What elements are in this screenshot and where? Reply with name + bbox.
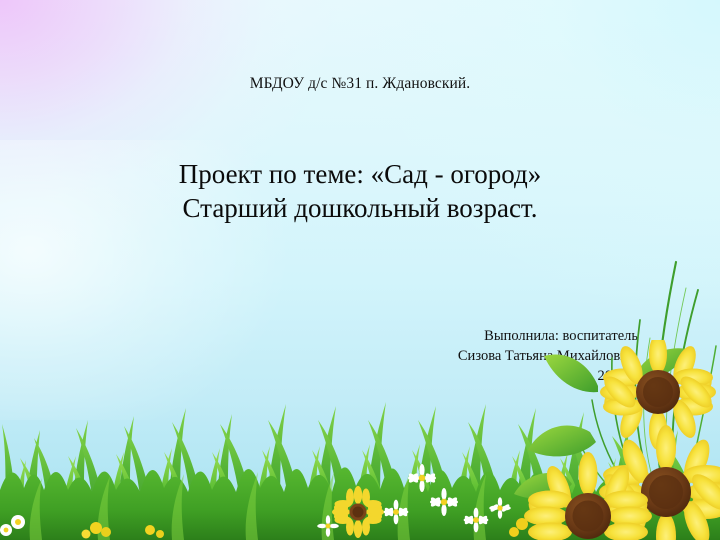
page-title: Проект по теме: «Сад - огород» Старший д…: [0, 157, 720, 225]
title-line-1: Проект по теме: «Сад - огород»: [0, 157, 720, 191]
left-flower-cluster-icon: [0, 470, 180, 540]
presentation-slide: МБДОУ д/с №31 п. Ждановский. Проект по т…: [0, 0, 720, 540]
sunflower-cluster-icon: [470, 340, 720, 540]
organization-line: МБДОУ д/с №31 п. Ждановский.: [0, 74, 720, 93]
sunflower-upper: [599, 340, 716, 450]
small-sunflower: [332, 486, 385, 538]
title-line-2: Старший дошкольный возраст.: [0, 191, 720, 225]
